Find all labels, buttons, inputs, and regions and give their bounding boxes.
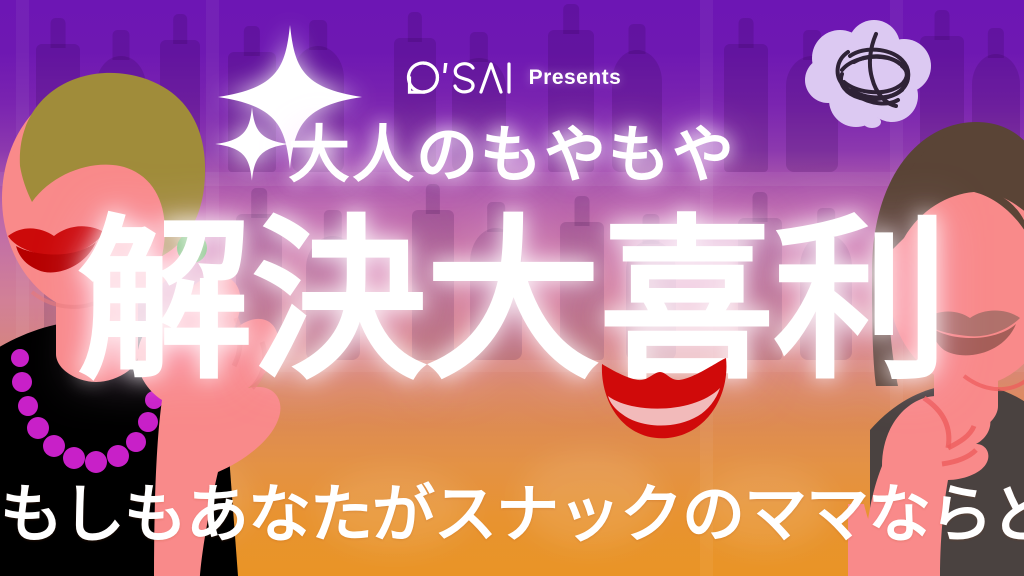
bottle-silhouette <box>394 38 436 172</box>
bottle-silhouette <box>724 44 768 172</box>
bottle-silhouette <box>612 50 662 172</box>
snack-mama-character <box>0 70 316 576</box>
bottle-silhouette <box>800 234 852 360</box>
bottle-silhouette <box>626 240 676 360</box>
bottle-silhouette <box>470 228 522 360</box>
thinking-customer-character <box>848 104 1024 576</box>
bottle-silhouette <box>560 222 604 360</box>
laughing-mouth-icon <box>598 356 730 444</box>
bottle-silhouette <box>452 58 506 172</box>
promo-banner: Presents 大人のもやもや 解決大喜利 もしもあなたがスナックのママならど… <box>0 0 1024 576</box>
thought-bubble-icon <box>792 18 940 140</box>
glow-blob <box>320 470 470 550</box>
bottle-silhouette <box>412 210 454 360</box>
bottle-silhouette <box>738 218 782 360</box>
bottle-silhouette <box>548 30 594 172</box>
glow-blob <box>520 452 660 547</box>
glow-blob <box>700 468 830 548</box>
